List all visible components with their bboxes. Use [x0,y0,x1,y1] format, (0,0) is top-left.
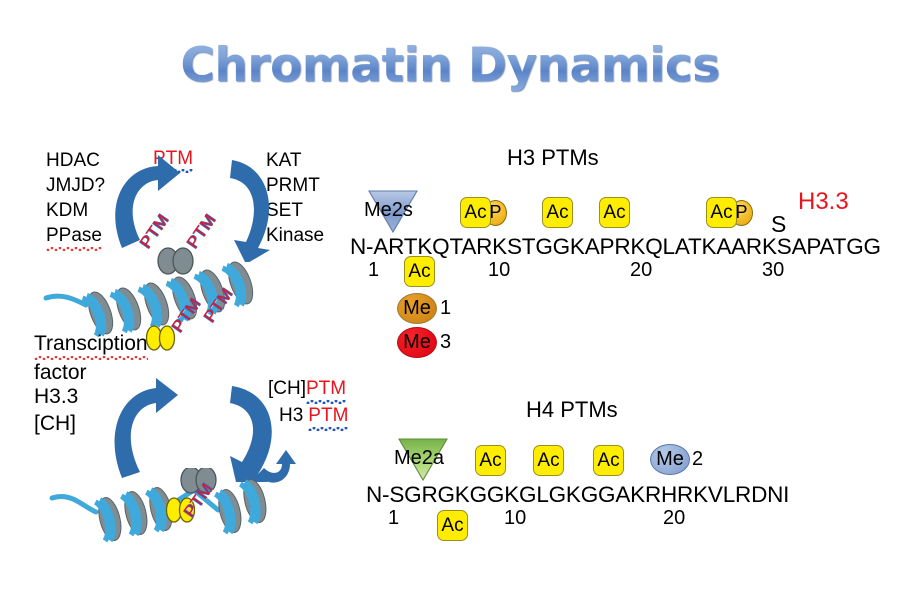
label-h33: H3.3 [34,383,78,410]
h4-sequence: N-SGRGKGGKGLGKGGAKRHRKVLRDNI [366,482,789,508]
enzyme-kdm: KDM [46,198,105,223]
me-ellipse-orange: Me [397,293,437,324]
chromatin-fiber-open: PTM [48,468,278,578]
h3-number-20: 20 [630,259,652,282]
h4-heading: H4 PTMs [526,397,618,423]
enzyme-hdac: HDAC [46,148,105,173]
h3-number-10: 10 [488,259,510,282]
h4-mark-me2: Me 2 [650,444,703,475]
h4-me2-count: 2 [692,448,703,471]
h3-mark-ac-p-2: Ac P [706,197,753,228]
h4-mark-ac-2: Ac [533,445,564,476]
label-ch: [CH] [34,410,78,437]
h3-variant-label: H3.3 [798,188,849,216]
me-ellipse-blue: Me [650,444,690,475]
h3-mark-me2s: Me2s [367,189,419,233]
page-title: Chromatin Dynamics [0,38,900,93]
h3-me2s-label: Me2s [364,199,413,222]
h3-number-1: 1 [368,259,379,282]
h4-me2a-label: Me2a [394,447,444,470]
h3-heading: H3 PTMs [507,145,599,171]
h4-below-ac: Ac [437,510,468,541]
h3-below-me1: Me 1 [397,293,451,324]
h3-below-me3: Me 3 [397,327,451,358]
h3-me1-count: 1 [440,297,451,320]
h4-number-10: 10 [504,507,526,530]
h3-me3-count: 3 [440,331,451,354]
h4-mark-ac-3: Ac [593,445,624,476]
protein-complex-gray [158,248,193,274]
h3-number-30: 30 [762,259,784,282]
transcription-factor-line1: Transciption [34,330,148,359]
h3-mark-ac-2: Ac [542,197,573,228]
h3-mark-ac-p-1: Ac P [460,197,507,228]
slide-canvas: Chromatin Dynamics HDAC JMJD? KDM PPase … [0,0,900,600]
ac-box: Ac [460,197,491,228]
lower-right-ptm-1: PTM [306,376,346,403]
h4-number-20: 20 [663,507,685,530]
transcription-factor-yellow [147,326,175,350]
enzyme-jmjd: JMJD? [46,173,105,198]
lower-cycle-left-labels: H3.3 [CH] [34,383,78,437]
ac-box: Ac [706,197,737,228]
h4-mark-me2a: Me2a [397,437,449,481]
h3-below-ac: Ac [404,256,435,287]
h3-mark-ac-3: Ac [599,197,630,228]
h4-mark-ac-1: Ac [475,445,506,476]
arrow-lower-left [115,378,178,478]
eraser-enzyme-list: HDAC JMJD? KDM PPase [46,148,105,250]
me-ellipse-red: Me [397,327,437,358]
lower-right-ptm-2: PTM [308,403,348,430]
h4-number-1: 1 [388,507,399,530]
